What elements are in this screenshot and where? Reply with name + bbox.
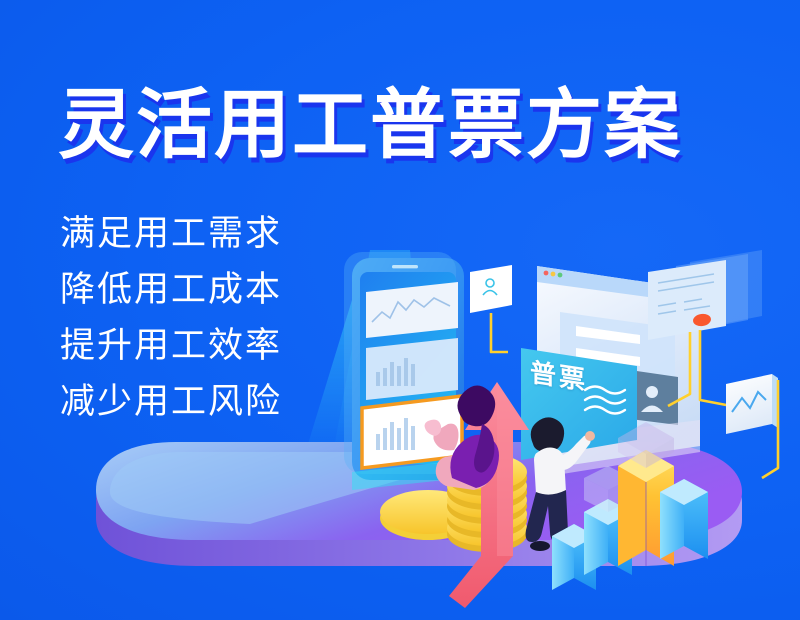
benefit-item: 提升用工效率: [60, 328, 282, 363]
benefit-item: 满足用工需求: [60, 216, 282, 251]
bar-chart-card: [366, 338, 458, 400]
wave-chart-card: [726, 374, 778, 478]
benefit-item: 降低用工成本: [60, 272, 282, 307]
smartphone-icon: [344, 252, 464, 490]
promo-banner: 灵活用工普票方案 满足用工需求 降低用工成本 提升用工效率 减少用工风险 普票: [0, 0, 800, 620]
benefits-list: 满足用工需求 降低用工成本 提升用工效率 减少用工风险: [60, 216, 282, 440]
page-title: 灵活用工普票方案: [58, 88, 682, 164]
user-profile-card: [470, 265, 512, 352]
benefit-item: 减少用工风险: [60, 384, 282, 419]
